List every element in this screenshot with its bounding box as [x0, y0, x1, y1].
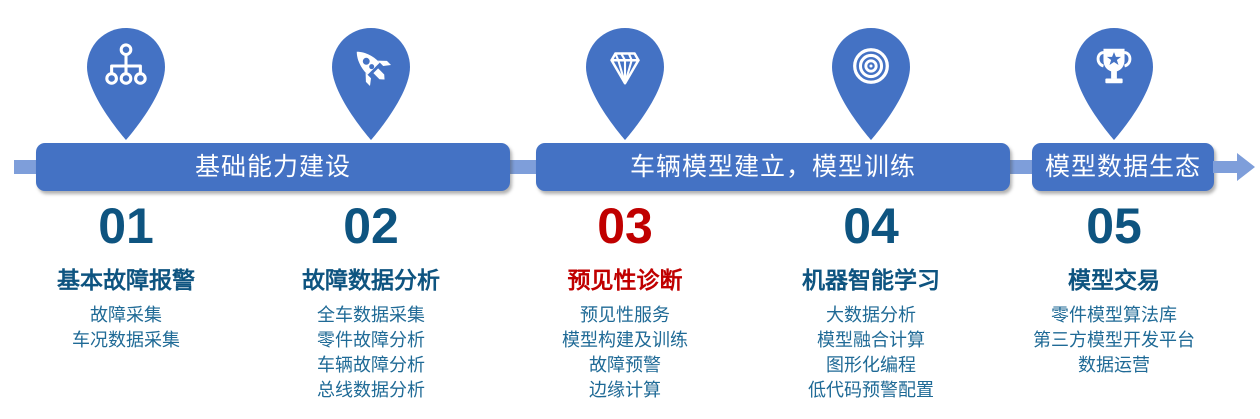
pin-marker-3	[580, 22, 670, 140]
stage-column-1: 01基本故障报警故障采集车况数据采集	[1, 196, 251, 353]
stage-item: 总线数据分析	[246, 378, 496, 403]
stage-item: 零件故障分析	[246, 328, 496, 353]
stage-column-5: 05模型交易零件模型算法库第三方模型开发平台数据运营	[989, 196, 1239, 378]
pin-marker-5	[1069, 22, 1159, 140]
stage-number: 03	[500, 196, 750, 256]
stage-item: 故障预警	[500, 353, 750, 378]
stage-item-list: 故障采集车况数据采集	[1, 303, 251, 353]
stage-number: 02	[246, 196, 496, 256]
stage-item: 大数据分析	[746, 303, 996, 328]
stage-item: 车辆故障分析	[246, 353, 496, 378]
stage-number: 01	[1, 196, 251, 256]
stage-heading: 机器智能学习	[746, 263, 996, 297]
stage-item: 全车数据采集	[246, 303, 496, 328]
stage-item-list: 全车数据采集零件故障分析车辆故障分析总线数据分析	[246, 303, 496, 403]
pin-marker-1	[81, 22, 171, 140]
stage-item: 数据运营	[989, 353, 1239, 378]
process-flow-bar-row: 基础能力建设车辆模型建立，模型训练模型数据生态	[0, 143, 1260, 201]
rocket-icon	[348, 43, 394, 89]
target-icon	[848, 43, 894, 89]
stage-item: 故障采集	[1, 303, 251, 328]
stage-columns: 01基本故障报警故障采集车况数据采集02故障数据分析全车数据采集零件故障分析车辆…	[0, 196, 1260, 419]
stage-item: 模型融合计算	[746, 328, 996, 353]
phase-banner-label: 车辆模型建立，模型训练	[630, 155, 916, 180]
pin-markers-row	[0, 0, 1260, 150]
stage-item: 低代码预警配置	[746, 378, 996, 403]
sitemap-icon	[103, 43, 149, 89]
phase-banner-label: 基础能力建设	[195, 155, 351, 180]
stage-item: 图形化编程	[746, 353, 996, 378]
stage-item: 模型构建及训练	[500, 328, 750, 353]
phase-banner-1[interactable]: 基础能力建设	[36, 143, 510, 191]
stage-item: 预见性服务	[500, 303, 750, 328]
stage-item: 第三方模型开发平台	[989, 328, 1239, 353]
stage-item-list: 零件模型算法库第三方模型开发平台数据运营	[989, 303, 1239, 378]
stage-column-3: 03预见性诊断预见性服务模型构建及训练故障预警边缘计算	[500, 196, 750, 403]
stage-heading: 预见性诊断	[500, 263, 750, 297]
stage-heading: 基本故障报警	[1, 263, 251, 297]
phase-banner-label: 模型数据生态	[1045, 155, 1201, 180]
phase-banner-2[interactable]: 车辆模型建立，模型训练	[536, 143, 1010, 191]
phase-banner-3[interactable]: 模型数据生态	[1032, 143, 1214, 191]
stage-item-list: 预见性服务模型构建及训练故障预警边缘计算	[500, 303, 750, 403]
stage-item-list: 大数据分析模型融合计算图形化编程低代码预警配置	[746, 303, 996, 403]
stage-heading: 故障数据分析	[246, 263, 496, 297]
stage-item: 零件模型算法库	[989, 303, 1239, 328]
stage-item: 边缘计算	[500, 378, 750, 403]
pin-marker-4	[826, 22, 916, 140]
stage-column-4: 04机器智能学习大数据分析模型融合计算图形化编程低代码预警配置	[746, 196, 996, 403]
stage-item: 车况数据采集	[1, 328, 251, 353]
stage-heading: 模型交易	[989, 263, 1239, 297]
stage-number: 04	[746, 196, 996, 256]
trophy-icon	[1091, 43, 1137, 89]
diamond-icon	[602, 43, 648, 89]
stage-column-2: 02故障数据分析全车数据采集零件故障分析车辆故障分析总线数据分析	[246, 196, 496, 403]
pin-marker-2	[326, 22, 416, 140]
stage-number: 05	[989, 196, 1239, 256]
flow-arrow-right	[1213, 151, 1255, 183]
